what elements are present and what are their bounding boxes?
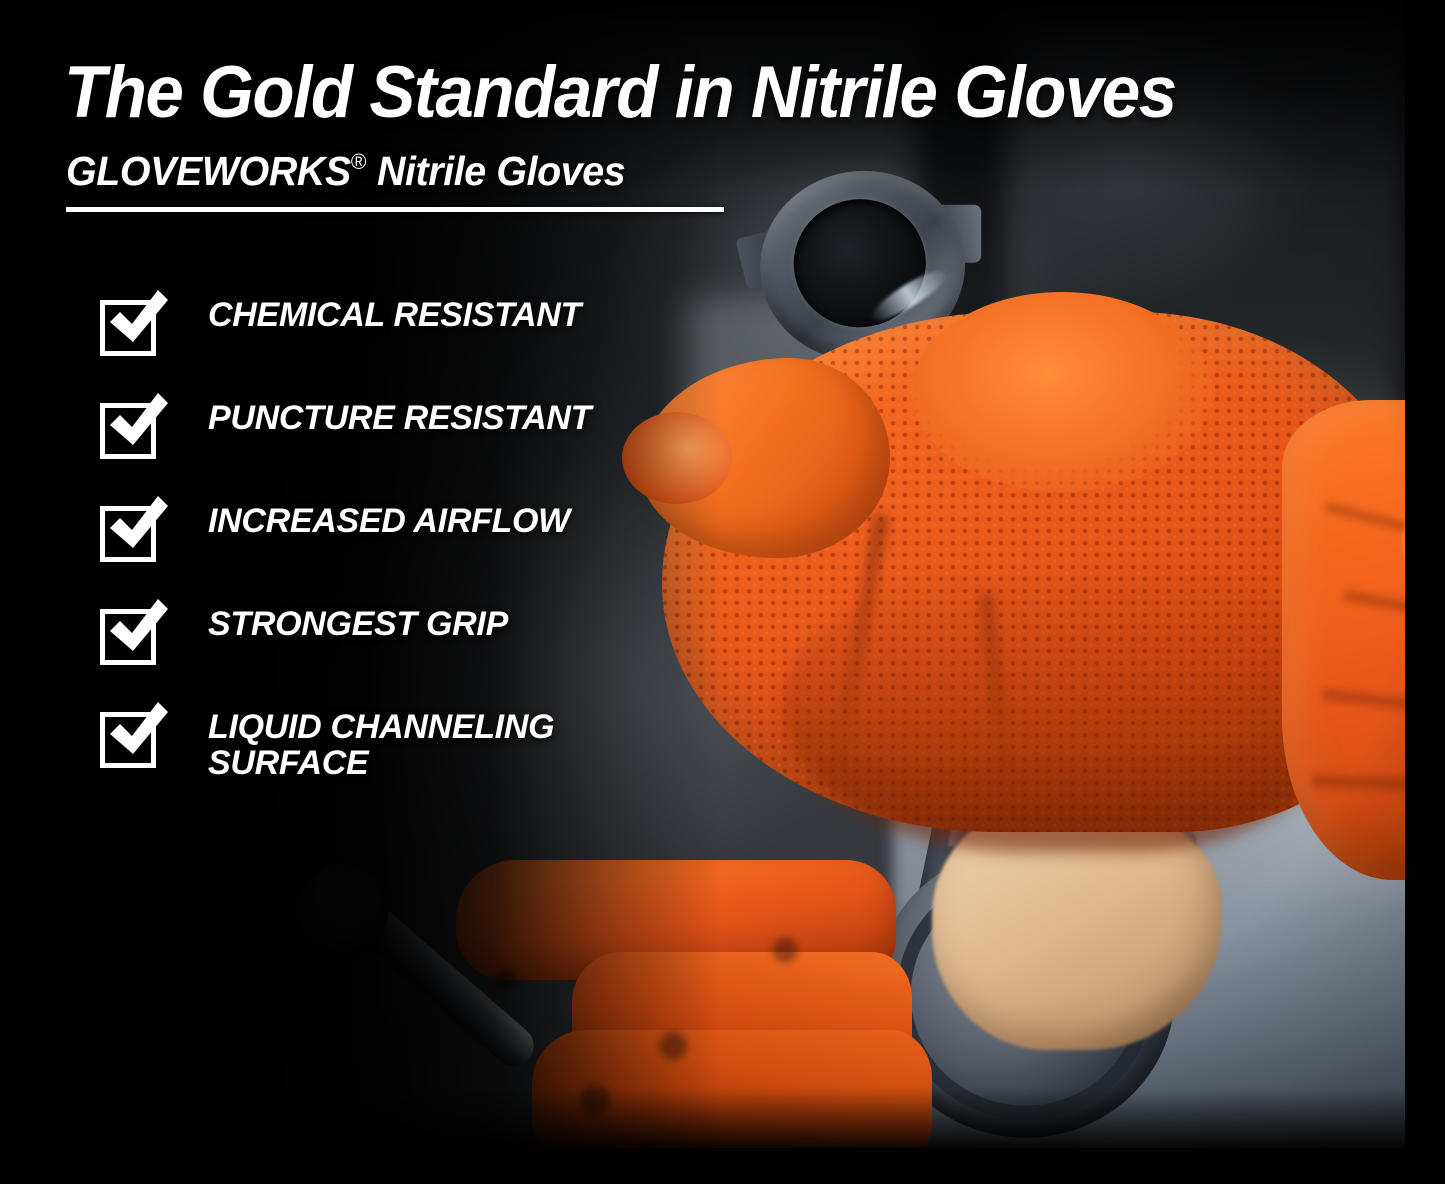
feature-label: LIQUID CHANNELING SURFACE	[208, 702, 554, 782]
glove-knuckle-highlight	[912, 292, 1212, 492]
feature-item-liquid-channeling-surface: LIQUID CHANNELING SURFACE	[100, 702, 660, 805]
feature-label: INCREASED AIRFLOW	[208, 496, 570, 539]
checkbox-checked-icon	[100, 498, 164, 562]
glove-cuff	[1282, 400, 1405, 880]
feature-item-chemical-resistant: CHEMICAL RESISTANT	[100, 290, 660, 393]
ball-peen-hammer	[282, 855, 612, 1148]
feature-item-increased-airflow: INCREASED AIRFLOW	[100, 496, 660, 599]
glove-lower-shadow	[782, 562, 1342, 852]
brand-subtitle: GLOVEWORKS® Nitrile Gloves	[66, 148, 738, 195]
checkmark-icon	[106, 599, 168, 661]
checkbox-checked-icon	[100, 704, 164, 768]
feature-list: CHEMICAL RESISTANT PUNCTURE RESISTANT IN…	[100, 290, 660, 805]
cuff-wrinkle-2	[1343, 588, 1405, 649]
checkbox-checked-icon	[100, 395, 164, 459]
hammer-ball-highlight	[326, 905, 360, 921]
subtitle-underline	[66, 207, 724, 212]
brand-name: GLOVEWORKS	[66, 148, 351, 194]
page-title: The Gold Standard in Nitrile Gloves	[64, 56, 1330, 129]
checkmark-icon	[106, 496, 168, 558]
checkmark-icon	[106, 290, 168, 352]
poster: 45	[0, 0, 1445, 1184]
feature-label: CHEMICAL RESISTANT	[208, 290, 581, 333]
checkmark-icon	[106, 393, 168, 455]
checkmark-icon	[106, 702, 168, 764]
feature-item-strongest-grip: STRONGEST GRIP	[100, 599, 660, 702]
feature-label: PUNCTURE RESISTANT	[208, 393, 591, 436]
cuff-wrinkle-4	[1312, 771, 1405, 801]
brand-subtitle-block: GLOVEWORKS® Nitrile Gloves	[66, 148, 766, 212]
checkbox-checked-icon	[100, 601, 164, 665]
checkbox-checked-icon	[100, 292, 164, 356]
cuff-wrinkle-1	[1324, 500, 1405, 574]
feature-item-puncture-resistant: PUNCTURE RESISTANT	[100, 393, 660, 496]
feature-label: STRONGEST GRIP	[208, 599, 508, 642]
brand-subtitle-suffix: Nitrile Gloves	[366, 148, 625, 194]
registered-trademark-icon: ®	[351, 149, 367, 174]
cuff-wrinkle-3	[1322, 685, 1405, 732]
